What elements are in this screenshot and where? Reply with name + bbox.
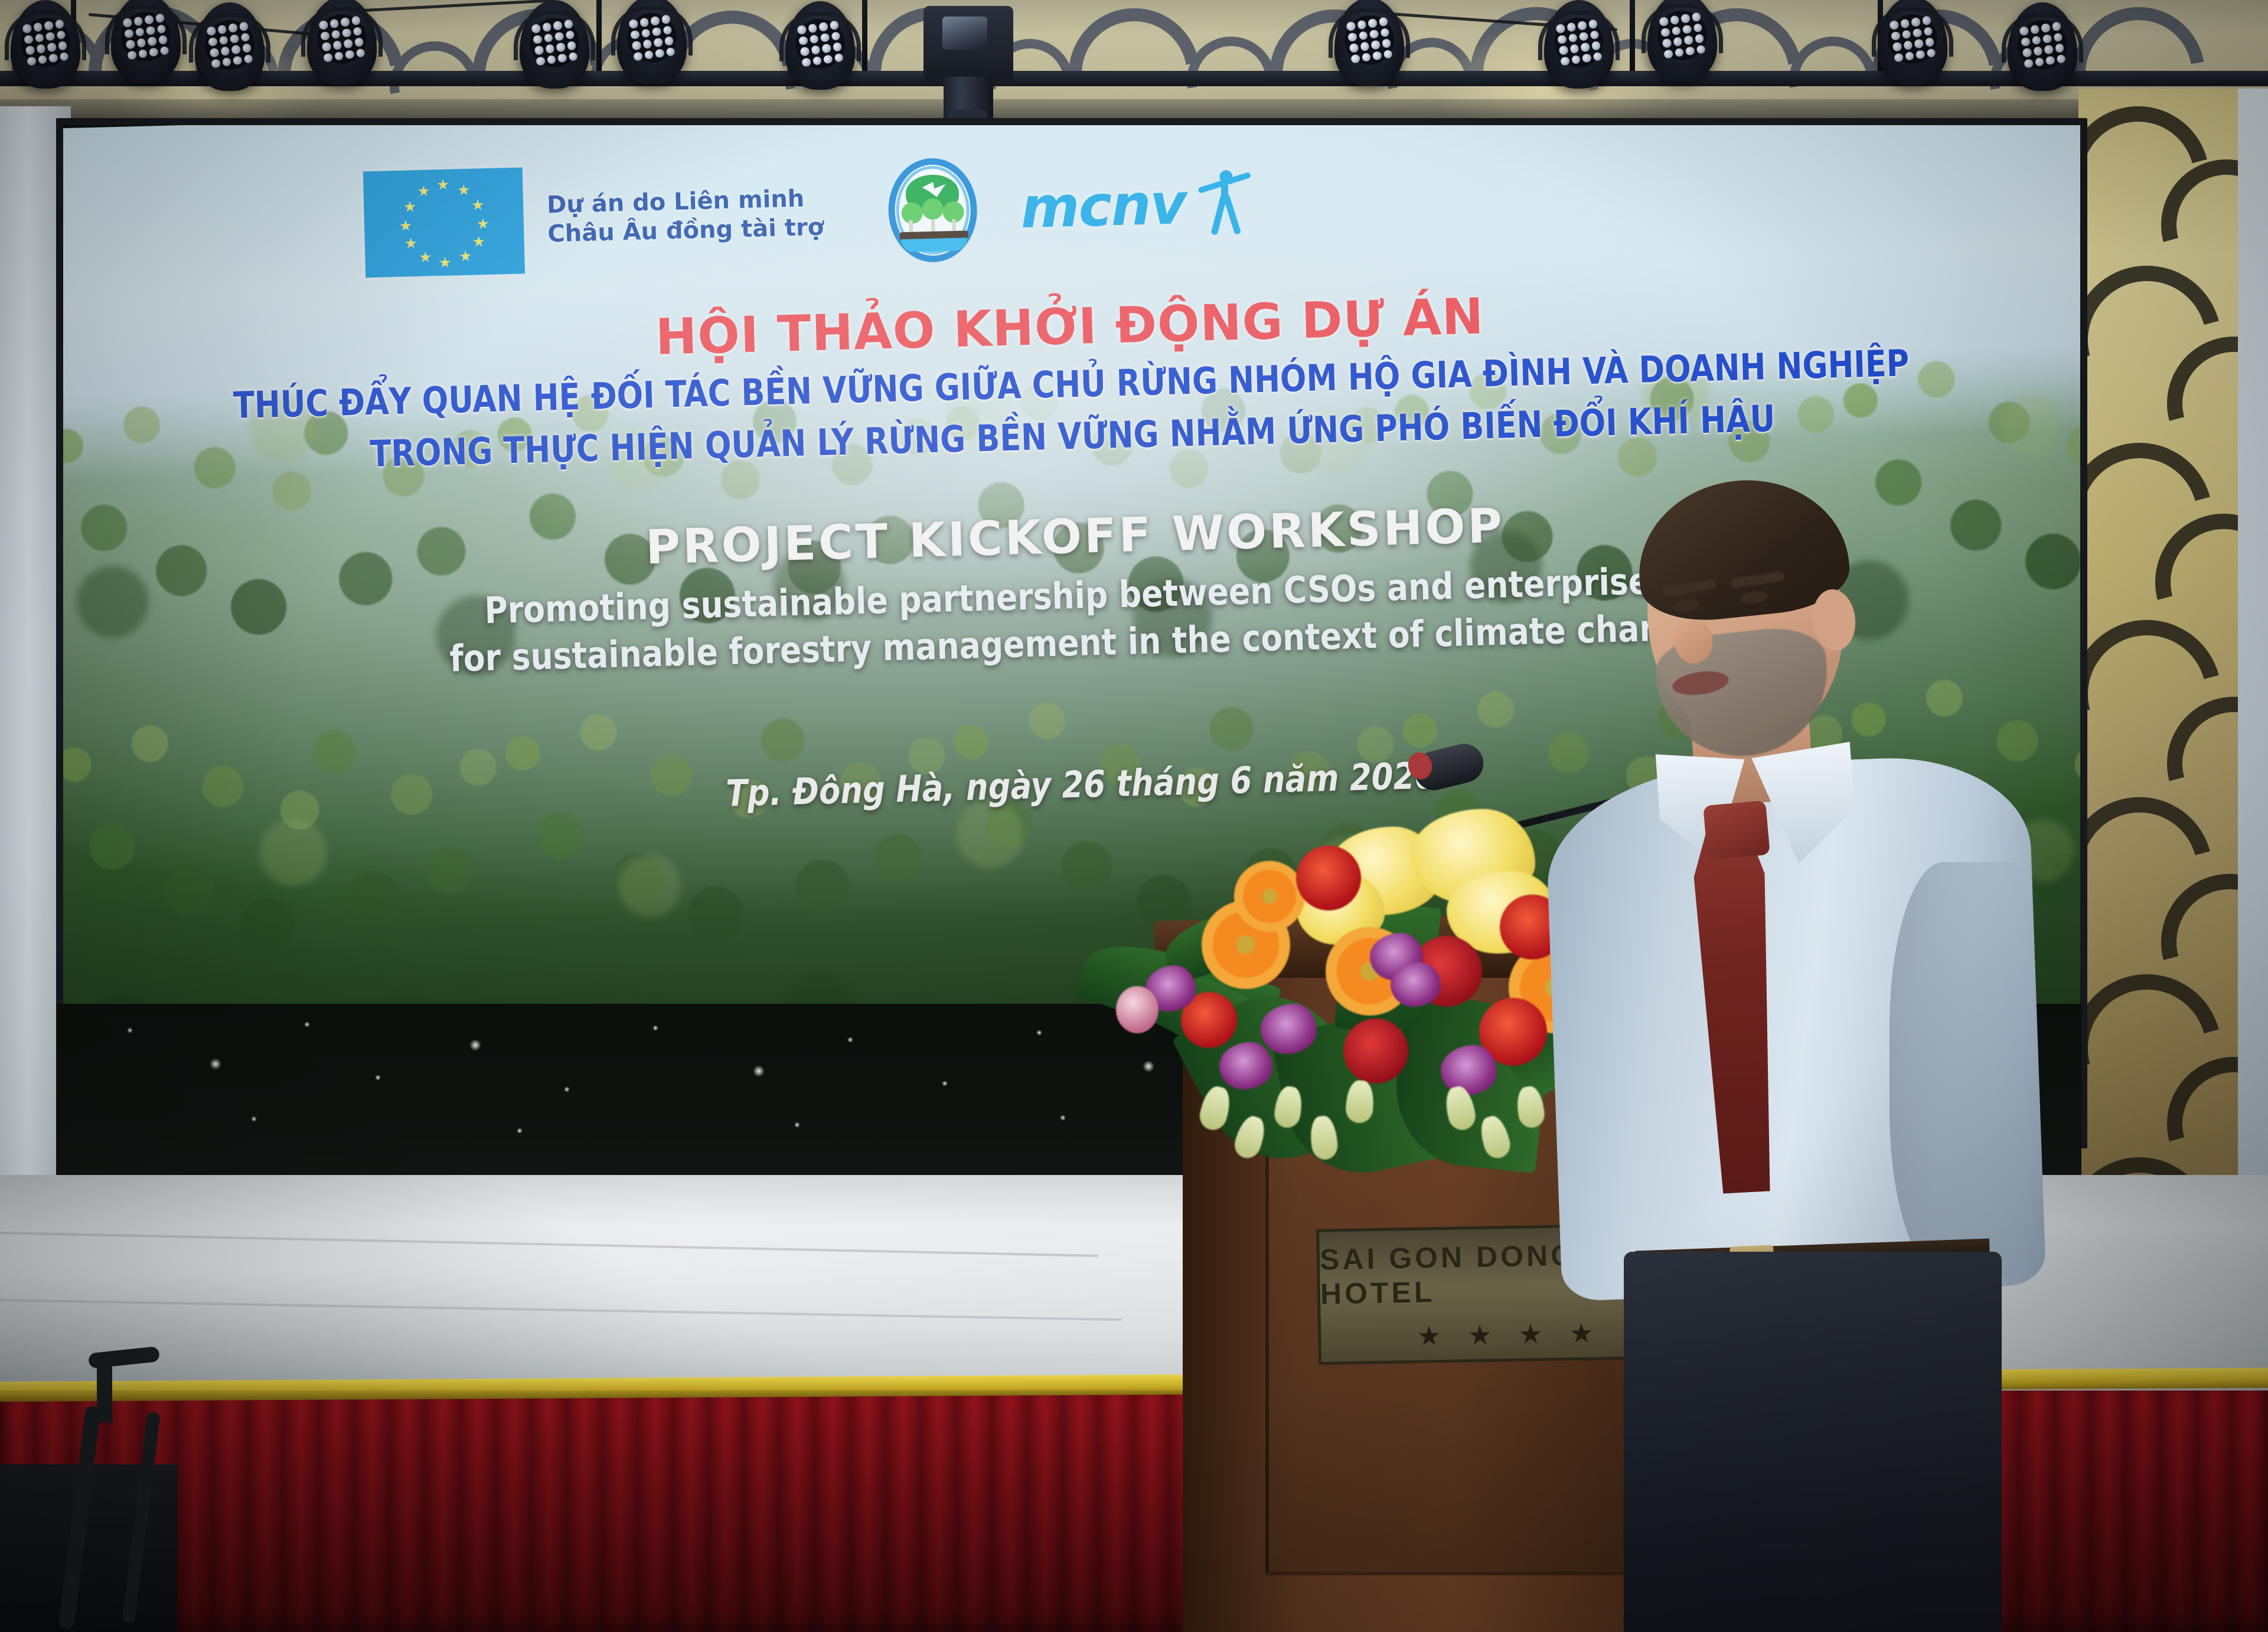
stage-light <box>617 0 687 84</box>
light-hanger <box>862 0 867 71</box>
stair-handrail <box>65 1352 177 1632</box>
stage-light <box>111 0 181 83</box>
speaker-tie-knot <box>1703 801 1770 860</box>
mcnv-person-icon <box>1195 169 1253 236</box>
conference-photo-scene: Dự án do Liên minh Châu Âu đồng tài trợ … <box>0 0 2268 1632</box>
light-hanger <box>1630 0 1635 71</box>
light-hanger <box>596 0 602 71</box>
mcnv-logo: mcnv <box>1020 169 1253 240</box>
stage-light <box>307 0 377 85</box>
european-union-flag-icon <box>363 168 525 278</box>
stage-light <box>1647 0 1717 81</box>
vietnam-forest-emblem-icon <box>887 157 978 263</box>
stage-light <box>1878 0 1947 85</box>
mcnv-wordmark: mcnv <box>1020 175 1186 236</box>
stage-light <box>1334 0 1404 86</box>
speaker-person <box>1535 484 2043 1632</box>
eu-funding-caption: Dự án do Liên minh Châu Âu đồng tài trợ <box>547 184 824 249</box>
speaker-trousers <box>1624 1252 2002 1632</box>
